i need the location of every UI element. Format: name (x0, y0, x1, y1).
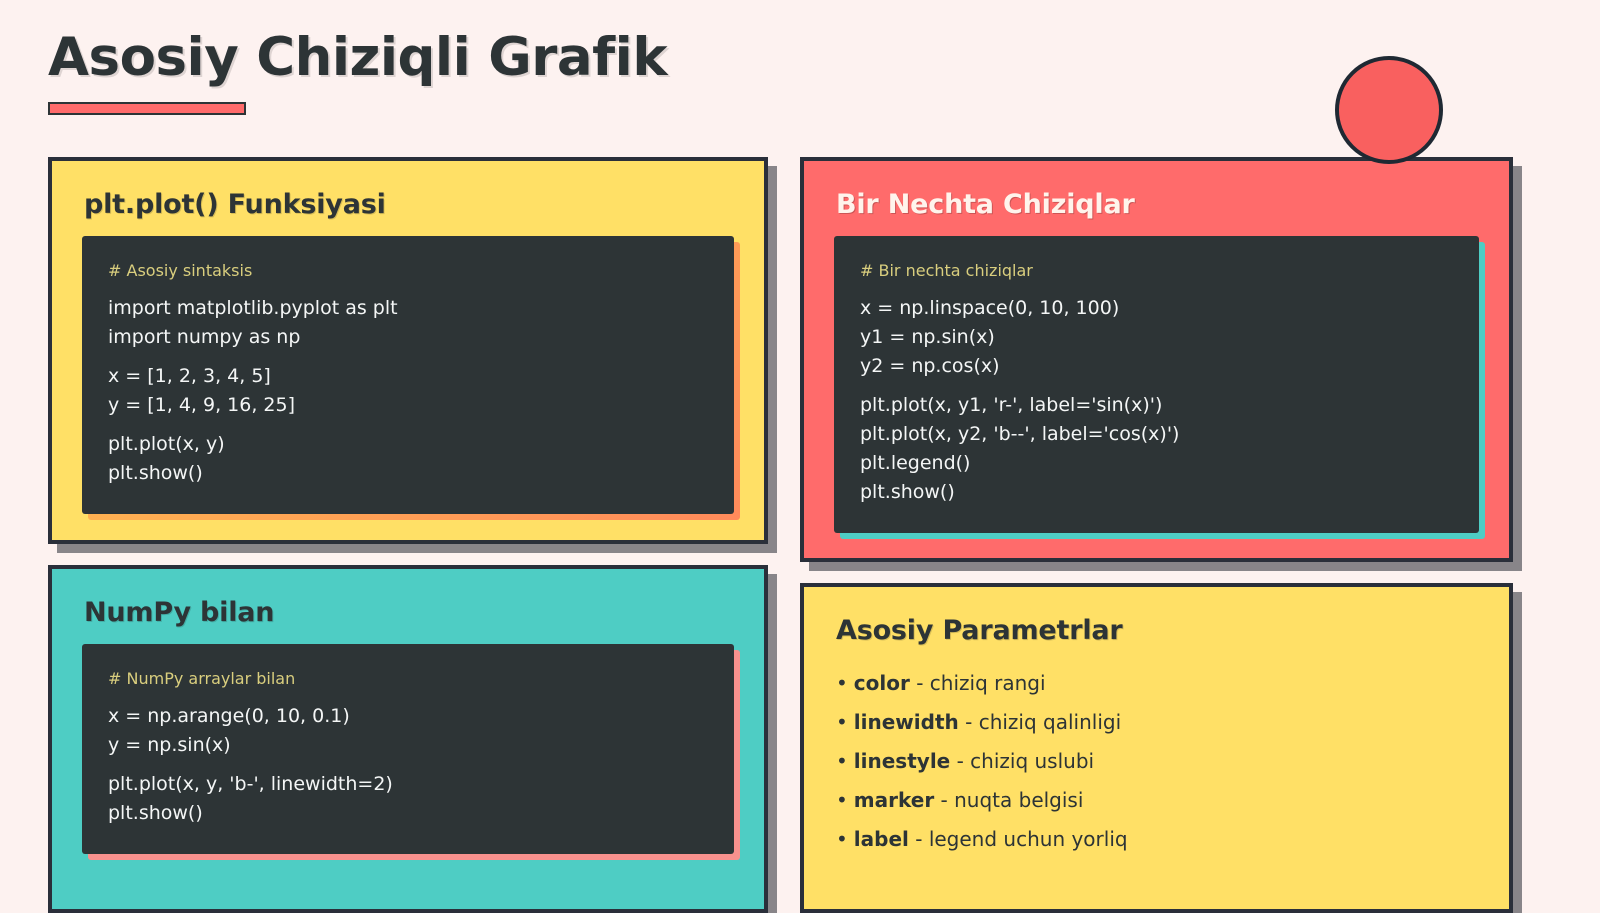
code-line: import numpy as np (108, 323, 708, 352)
code-line: y2 = np.cos(x) (860, 352, 1453, 381)
page-title: Asosiy Chiziqli Grafik (48, 30, 667, 86)
card-heading: Asosiy Parametrlar (804, 587, 1509, 646)
param-desc: - chiziq rangi (916, 671, 1045, 695)
code-block-wrapper: # Asosiy sintaksis import matplotlib.pyp… (82, 236, 734, 514)
bullet-icon: • (836, 827, 848, 851)
code-block-wrapper: # Bir nechta chiziqlar x = np.linspace(0… (834, 236, 1479, 533)
card-plt-plot-funksiyasi: plt.plot() Funksiyasi # Asosiy sintaksis… (48, 157, 768, 544)
title-underline-bar (48, 102, 246, 115)
list-item: •linestyle - chiziq uslubi (836, 742, 1509, 781)
list-item: •label - legend uchun yorliq (836, 820, 1509, 859)
code-line: plt.show() (108, 459, 708, 488)
code-line: plt.legend() (860, 449, 1453, 478)
code-line: plt.plot(x, y1, 'r-', label='sin(x)') (860, 391, 1453, 420)
param-name: marker (854, 788, 934, 812)
code-line: y1 = np.sin(x) (860, 323, 1453, 352)
card-heading: plt.plot() Funksiyasi (52, 161, 764, 220)
code-line: x = np.linspace(0, 10, 100) (860, 294, 1453, 323)
param-name: linestyle (854, 749, 950, 773)
code-block: # Asosiy sintaksis import matplotlib.pyp… (82, 236, 734, 514)
list-item: •linewidth - chiziq qalinligi (836, 703, 1509, 742)
code-line: plt.plot(x, y, 'b-', linewidth=2) (108, 770, 708, 799)
bullet-icon: • (836, 788, 848, 812)
card-numpy-bilan: NumPy bilan # NumPy arraylar bilan x = n… (48, 565, 768, 913)
code-line: plt.show() (108, 799, 708, 828)
param-desc: - chiziq uslubi (957, 749, 1095, 773)
bullet-icon: • (836, 749, 848, 773)
code-comment: # NumPy arraylar bilan (108, 666, 708, 692)
param-name: color (854, 671, 910, 695)
param-desc: - chiziq qalinligi (965, 710, 1121, 734)
parameter-list: •color - chiziq rangi •linewidth - chizi… (804, 664, 1509, 859)
param-name: label (854, 827, 909, 851)
bullet-icon: • (836, 671, 848, 695)
card-heading: Bir Nechta Chiziqlar (804, 161, 1509, 220)
param-desc: - legend uchun yorliq (915, 827, 1127, 851)
param-name: linewidth (854, 710, 959, 734)
param-desc: - nuqta belgisi (941, 788, 1084, 812)
code-line: plt.show() (860, 478, 1453, 507)
code-line: import matplotlib.pyplot as plt (108, 294, 708, 323)
code-block: # NumPy arraylar bilan x = np.arange(0, … (82, 644, 734, 854)
bullet-icon: • (836, 710, 848, 734)
code-line: y = np.sin(x) (108, 731, 708, 760)
code-block-wrapper: # NumPy arraylar bilan x = np.arange(0, … (82, 644, 734, 854)
card-asosiy-parametrlar: Asosiy Parametrlar •color - chiziq rangi… (800, 583, 1513, 913)
code-block: # Bir nechta chiziqlar x = np.linspace(0… (834, 236, 1479, 533)
code-line: x = np.arange(0, 10, 0.1) (108, 702, 708, 731)
code-line: plt.plot(x, y) (108, 430, 708, 459)
list-item: •marker - nuqta belgisi (836, 781, 1509, 820)
circle-decoration-icon (1335, 56, 1443, 164)
code-line: plt.plot(x, y2, 'b--', label='cos(x)') (860, 420, 1453, 449)
list-item: •color - chiziq rangi (836, 664, 1509, 703)
code-comment: # Asosiy sintaksis (108, 258, 708, 284)
card-heading: NumPy bilan (52, 569, 764, 628)
code-line: x = [1, 2, 3, 4, 5] (108, 362, 708, 391)
code-comment: # Bir nechta chiziqlar (860, 258, 1453, 284)
page-title-block: Asosiy Chiziqli Grafik (48, 30, 667, 115)
card-bir-nechta-chiziqlar: Bir Nechta Chiziqlar # Bir nechta chiziq… (800, 157, 1513, 562)
code-line: y = [1, 4, 9, 16, 25] (108, 391, 708, 420)
